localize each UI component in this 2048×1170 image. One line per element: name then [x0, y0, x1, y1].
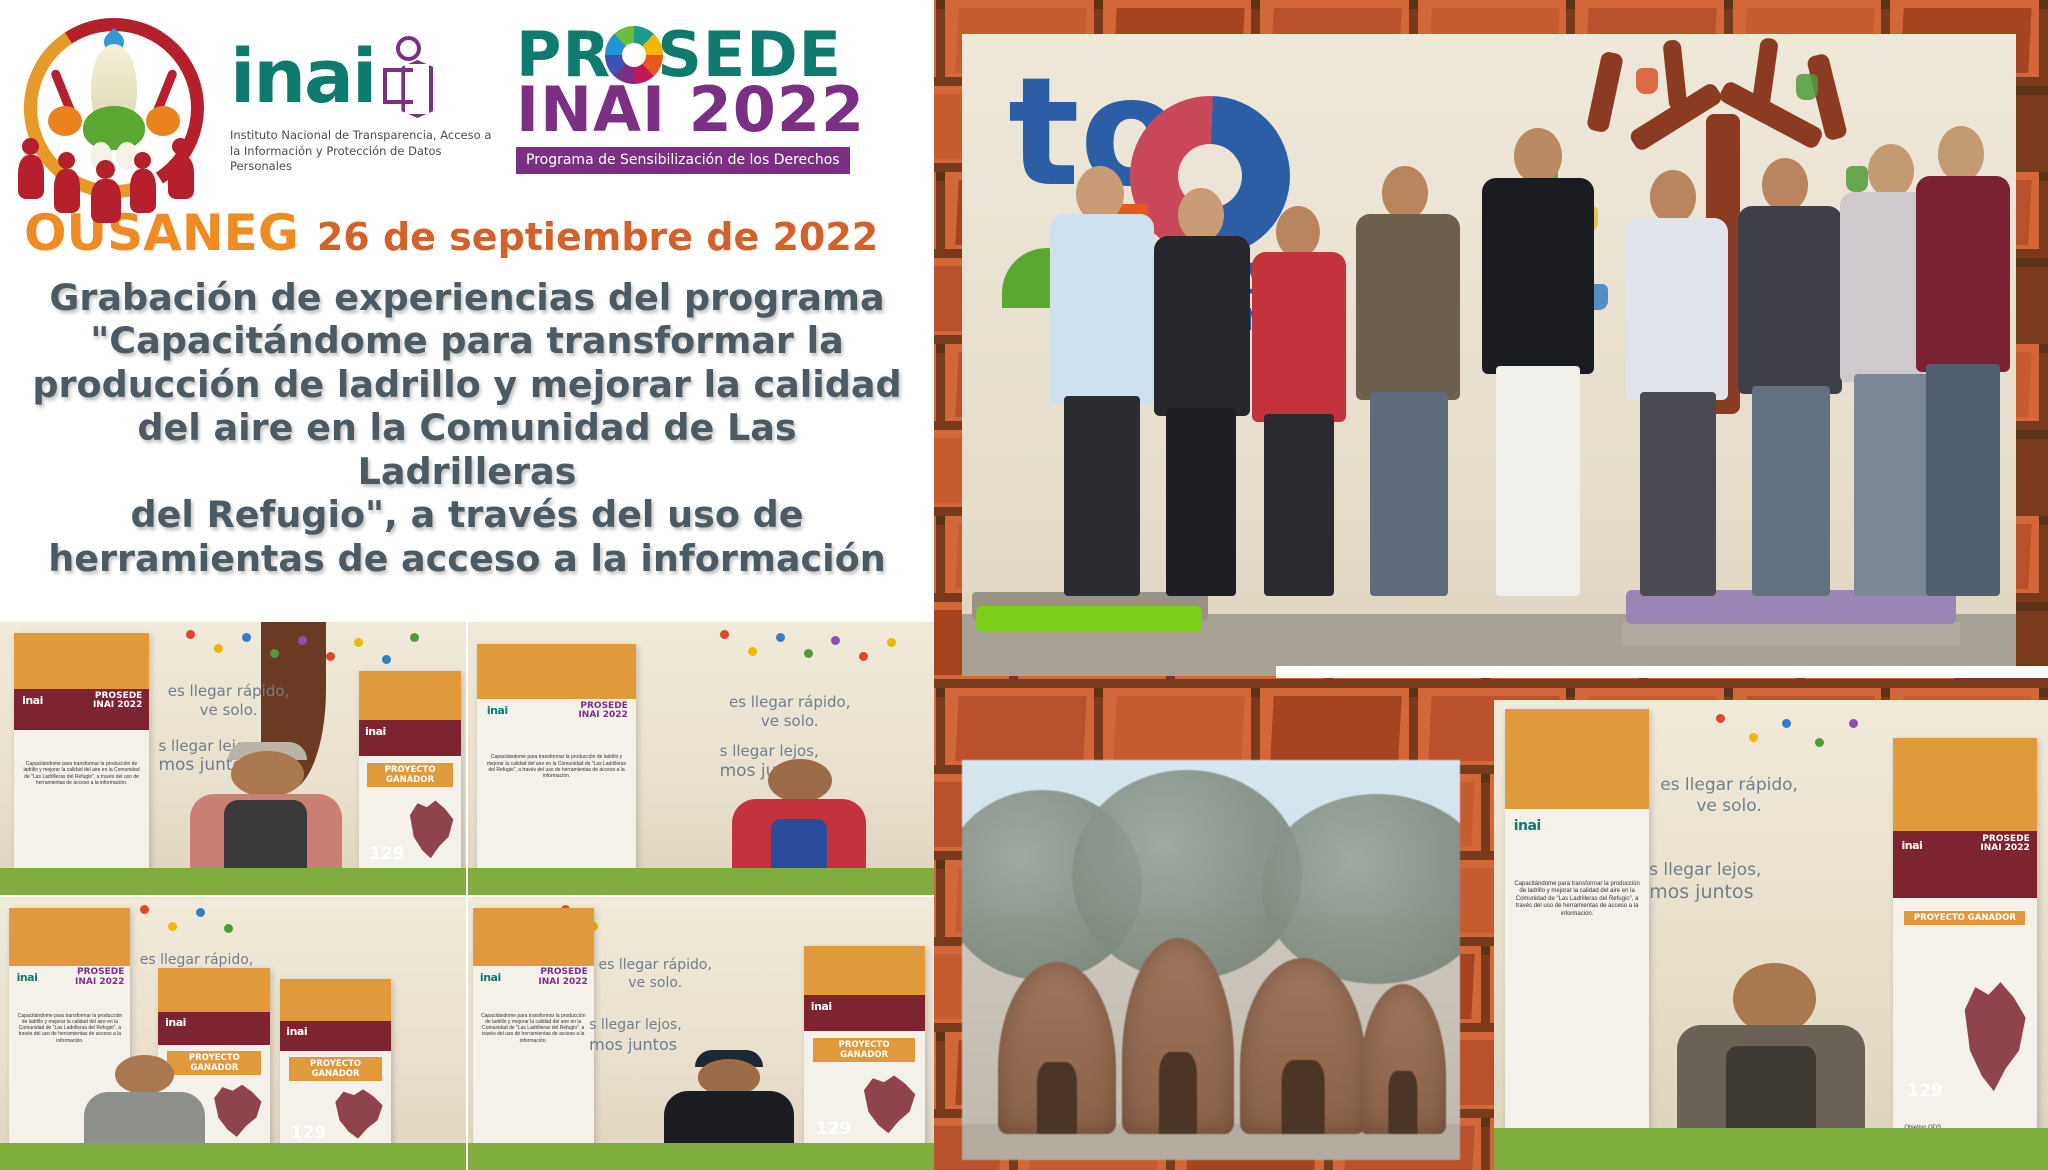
- prosede-roll-up-banner-7: inai PROYECTO GANADOR 129: [804, 946, 925, 1170]
- banner-inai-mark-7: inai: [480, 971, 501, 984]
- inai-wordmark: inai: [230, 48, 375, 107]
- header-panel: inai Instituto Nacional de Transparencia…: [0, 0, 934, 622]
- participant-4: [1348, 166, 1468, 596]
- ousaneg-emblem-icon: [16, 10, 212, 206]
- banner-number-br: 129: [1907, 1081, 1943, 1101]
- wall-quote-br-1: es llegar rápido, ve solo.: [1660, 775, 1798, 818]
- banner-prosede-label-2: PROSEDE INAI 2022: [578, 702, 627, 721]
- wall-quote-6: es llegar rápido, ve solo.: [598, 957, 711, 992]
- banner-project-text-3: Capacitándome para transformar la produc…: [17, 1013, 124, 1044]
- brick: [945, 688, 1094, 765]
- collage-cell-man-cap: inai PROSEDE INAI 2022 Capacitándome par…: [468, 897, 934, 1170]
- prosede-roll-up-banner-5: inai PROYECTO GANADOR 129: [280, 979, 392, 1170]
- brick: [1260, 688, 1409, 765]
- banner-project-text: Capacitándome para transformar la produc…: [22, 761, 141, 786]
- inai-logo: inai Instituto Nacional de Transparencia…: [230, 10, 498, 175]
- collage-cell-woman-grey: inai PROSEDE INAI 2022 Capacitándome par…: [0, 897, 466, 1170]
- banner-winner-label-3: PROYECTO GANADOR: [289, 1057, 383, 1081]
- wall-quote-3: es llegar rápido, ve solo.: [729, 693, 851, 731]
- banner-inai-mark-8: inai: [811, 1000, 832, 1013]
- title-line-6: herramientas de acceso a la información: [30, 537, 904, 580]
- banner-inai-mark-2: inai: [365, 725, 386, 738]
- title-line-1: Grabación de experiencias del programa: [30, 276, 904, 319]
- participant-9: [1914, 126, 2014, 596]
- brick: [1103, 688, 1252, 765]
- banner-project-text-2: Capacitándome para transformar la produc…: [487, 754, 626, 779]
- banner-winner-label-br: PROYECTO GANADOR: [1904, 911, 2025, 925]
- participant-7: [1730, 158, 1850, 596]
- banner-inai-mark-3: inai: [487, 704, 508, 717]
- logo-row: inai Instituto Nacional de Transparencia…: [16, 10, 918, 210]
- interview-photo-man: inai Capacitándome para transformar la p…: [1494, 700, 2048, 1170]
- banner-prosede-label-3: PROSEDE INAI 2022: [75, 968, 124, 987]
- prosede-roll-up-banner-2: inai PROSEDE INAI 2022 Capacitándome par…: [477, 644, 635, 895]
- prosede-roll-up-banner-br-left: inai Capacitándome para transformar la p…: [1505, 709, 1649, 1160]
- participant-2: [1148, 182, 1258, 596]
- prosede-roll-up-banner-br-right: inai PROSEDE INAI 2022 PROYECTO GANADOR …: [1893, 738, 2037, 1161]
- banner-number-3: 129: [291, 1123, 327, 1143]
- participant-1: [1042, 166, 1162, 596]
- banner-prosede-label-br: PROSEDE INAI 2022: [1980, 835, 2029, 854]
- wall-quote-1: es llegar rápido, ve solo.: [168, 682, 290, 720]
- banner-prosede-label: PROSEDE INAI 2022: [93, 692, 142, 711]
- prosede-banner-text: Programa de Sensibilización de los Derec…: [516, 147, 850, 174]
- title-line-5: del Refugio", a través del uso de: [30, 493, 904, 536]
- photo-divider-strip: [1276, 666, 2048, 678]
- participant-5: [1470, 128, 1604, 596]
- prosede-roll-up-banner-right: inai PROYECTO GANADOR 129: [359, 671, 462, 895]
- wall-quote-br-2: s llegar lejos, mos juntos: [1649, 860, 1761, 905]
- banner-number: 129: [369, 844, 405, 864]
- banner-inai-mark-6: inai: [286, 1025, 307, 1038]
- collage-cell-man-vest: inai PROSEDE INAI 2022 Capacitándome par…: [0, 622, 466, 895]
- prosede-roll-up-banner-6: inai PROSEDE INAI 2022 Capacitándome par…: [473, 908, 594, 1170]
- banner-prosede-label-4: PROSEDE INAI 2022: [538, 968, 587, 987]
- banner-number-4: 129: [816, 1119, 852, 1139]
- banner-inai-mark: inai: [22, 694, 43, 707]
- kiln-4: [1360, 984, 1446, 1134]
- inai-subtitle: Instituto Nacional de Transparencia, Acc…: [230, 128, 492, 175]
- collage-cell-woman-red: inai PROSEDE INAI 2022 Capacitándome par…: [468, 622, 934, 895]
- participant-6: [1618, 166, 1736, 596]
- banner-winner-label-4: PROYECTO GANADOR: [813, 1038, 915, 1062]
- banner-project-text-br: Capacitándome para transformar la produc…: [1514, 881, 1641, 919]
- page-title: Grabación de experiencias del programa "…: [16, 276, 918, 580]
- banner-inai-mark-4: inai: [17, 971, 38, 984]
- event-date: 26 de septiembre de 2022: [317, 215, 878, 259]
- kiln-3: [1240, 958, 1366, 1134]
- inai-ballot-icon: [381, 36, 439, 120]
- prosede-inai-2022-text: INAI 2022: [516, 79, 918, 141]
- banner-winner-label: PROYECTO GANADOR: [367, 763, 453, 787]
- banner-inai-mark-br2: inai: [1902, 839, 1923, 852]
- title-line-4: del aire en la Comunidad de Las Ladrille…: [30, 406, 904, 493]
- banner-project-text-4: Capacitándome para transformar la produc…: [480, 1013, 587, 1044]
- prosede-logo: PR SEDE INAI 2022 Programa de Sensibiliz…: [516, 10, 918, 174]
- participant-3: [1246, 196, 1354, 596]
- interview-collage: inai PROSEDE INAI 2022 Capacitándome par…: [0, 622, 934, 1170]
- prosede-roll-up-banner: inai PROSEDE INAI 2022 Capacitándome par…: [14, 633, 149, 890]
- banner-inai-mark-br: inai: [1514, 818, 1541, 834]
- title-line-2: "Capacitándome para transformar la: [30, 319, 904, 362]
- kiln-1: [998, 962, 1116, 1134]
- banner-inai-mark-5: inai: [165, 1016, 186, 1029]
- title-line-3: producción de ladrillo y mejorar la cali…: [30, 363, 904, 406]
- brick-kiln-photo: [962, 760, 1460, 1160]
- group-photo-participants: to orgullo y compromiso: [962, 34, 2016, 676]
